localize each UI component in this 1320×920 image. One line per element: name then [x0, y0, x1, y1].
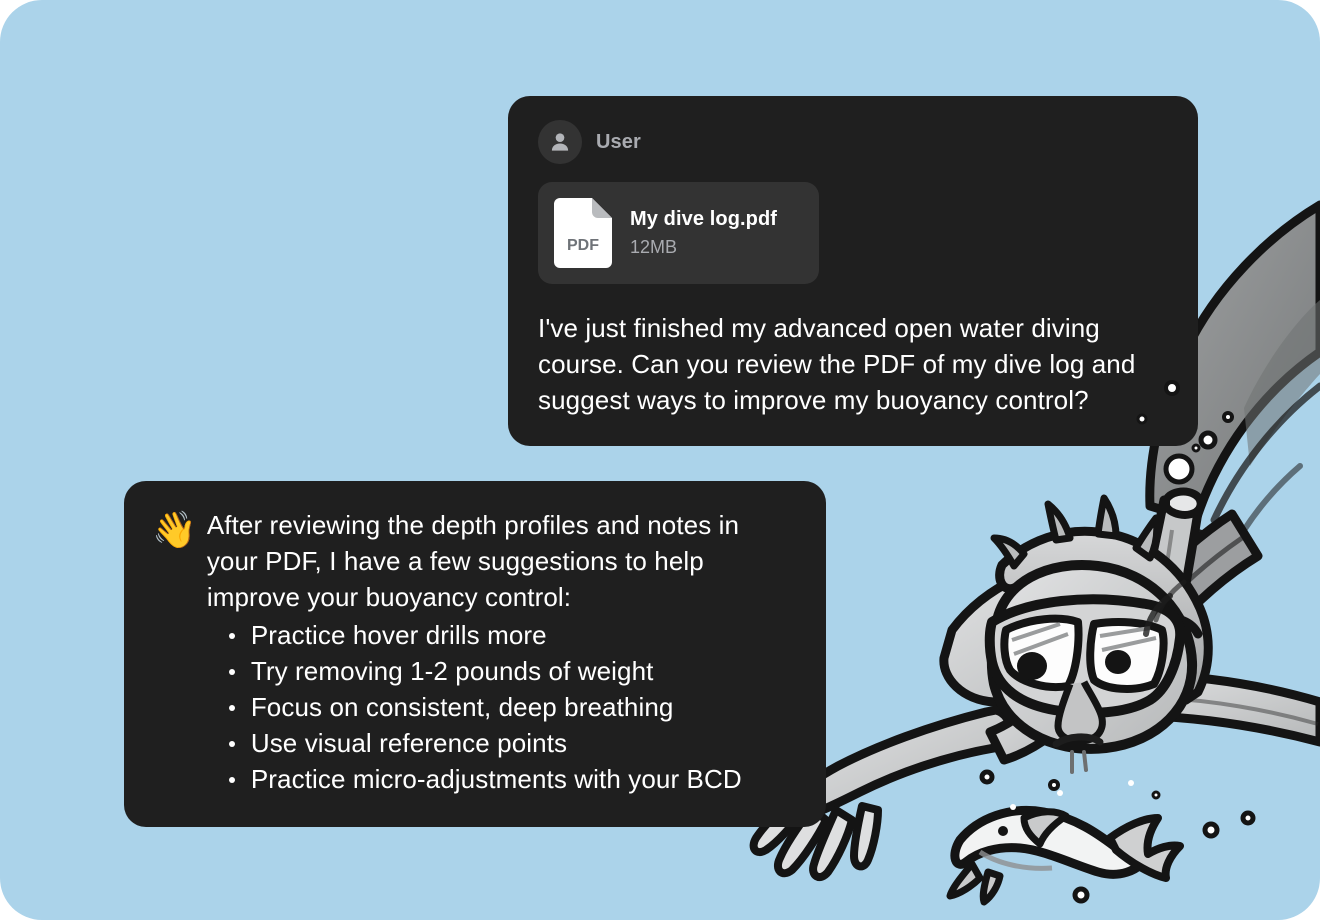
list-item: Use visual reference points — [227, 725, 796, 761]
screen: User PDF My dive log.pdf 12MB I've just … — [0, 0, 1320, 920]
diver-waistband — [1139, 514, 1258, 636]
pdf-file-icon: PDF — [554, 198, 612, 268]
right-eye — [1105, 650, 1131, 674]
diver-torso — [944, 558, 1179, 703]
fish-eye — [998, 826, 1008, 836]
pdf-attachment-name: My dive log.pdf — [630, 208, 777, 231]
diver-neck — [990, 672, 1094, 760]
left-eye — [1017, 652, 1047, 680]
user-message-bubble: User PDF My dive log.pdf 12MB I've just … — [508, 96, 1198, 446]
diver-right-arm — [1082, 675, 1320, 742]
pdf-attachment-card[interactable]: PDF My dive log.pdf 12MB — [538, 182, 819, 284]
list-item: Focus on consistent, deep breathing — [227, 689, 796, 725]
fish-illustration — [950, 810, 1180, 902]
pdf-icon-label: PDF — [567, 237, 599, 254]
pdf-attachment-size: 12MB — [630, 237, 777, 258]
dive-mask — [990, 599, 1180, 713]
pdf-attachment-meta: My dive log.pdf 12MB — [630, 208, 777, 258]
diver-head — [990, 498, 1209, 772]
fish-dorsal-fin — [1024, 812, 1066, 844]
waving-hand-emoji: 👋 — [152, 511, 197, 797]
fish-lower-fin — [950, 864, 980, 896]
user-message-header: User — [538, 120, 1170, 164]
air-bubbles-highlights — [1010, 780, 1134, 810]
assistant-suggestion-list: Practice hover drills more Try removing … — [207, 617, 796, 797]
air-bubbles — [982, 385, 1253, 901]
person-avatar-icon — [538, 120, 582, 164]
fish-tail — [1110, 818, 1180, 878]
assistant-message-bubble: 👋 After reviewing the depth profiles and… — [124, 481, 826, 827]
list-item: Practice micro-adjustments with your BCD — [227, 761, 796, 797]
assistant-message-body: After reviewing the depth profiles and n… — [207, 507, 796, 797]
assistant-message-intro: After reviewing the depth profiles and n… — [207, 507, 796, 615]
list-item: Try removing 1-2 pounds of weight — [227, 653, 796, 689]
snorkel-tube — [1129, 492, 1201, 731]
list-item: Practice hover drills more — [227, 617, 796, 653]
user-message-text: I've just finished my advanced open wate… — [538, 310, 1170, 418]
user-message-author: User — [596, 131, 641, 154]
